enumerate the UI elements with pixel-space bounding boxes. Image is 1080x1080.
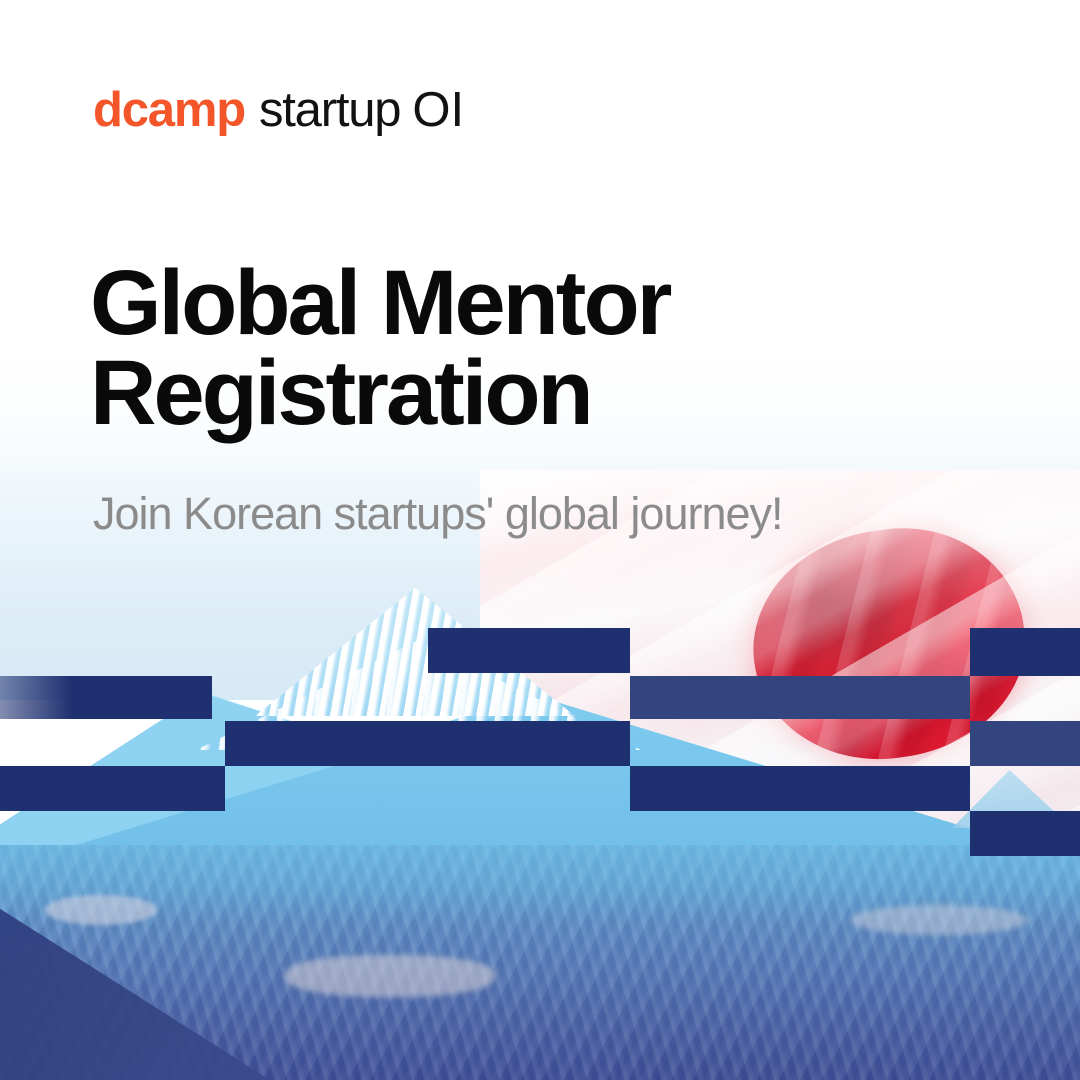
- logo-mark-dcamp: dcamp: [93, 83, 245, 137]
- poster-content: dcampstartupOI Global Mentor Registratio…: [0, 0, 1080, 1080]
- brand-logo[interactable]: dcampstartupOI: [93, 86, 464, 135]
- page-subtitle: Join Korean startups' global journey!: [93, 489, 783, 539]
- logo-number: OI: [412, 83, 464, 137]
- page-title: Global Mentor Registration: [90, 258, 669, 438]
- promo-poster: dcampstartupOI Global Mentor Registratio…: [0, 0, 1080, 1080]
- logo-word-startup: startup: [259, 83, 400, 137]
